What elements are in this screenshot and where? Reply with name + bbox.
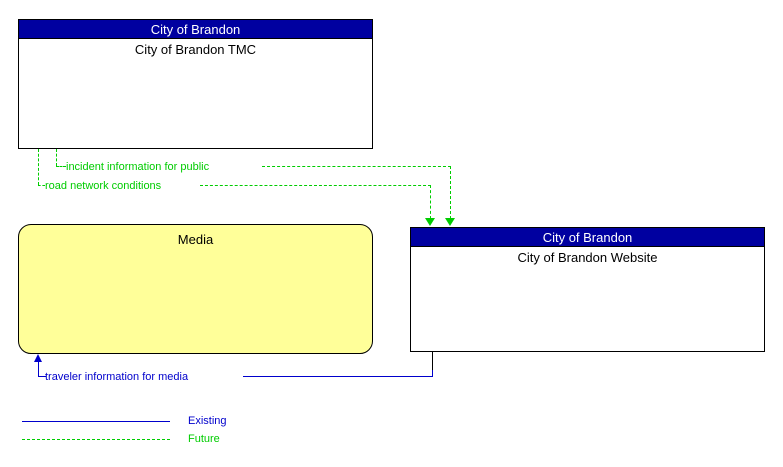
legend-line-future [22, 439, 170, 440]
legend-line-existing [22, 421, 170, 422]
legend-label-future: Future [188, 433, 220, 445]
legend-label-existing: Existing [188, 415, 227, 427]
legend: Existing Future [0, 0, 783, 467]
architecture-flow-diagram: City of Brandon City of Brandon TMC Medi… [0, 0, 783, 467]
